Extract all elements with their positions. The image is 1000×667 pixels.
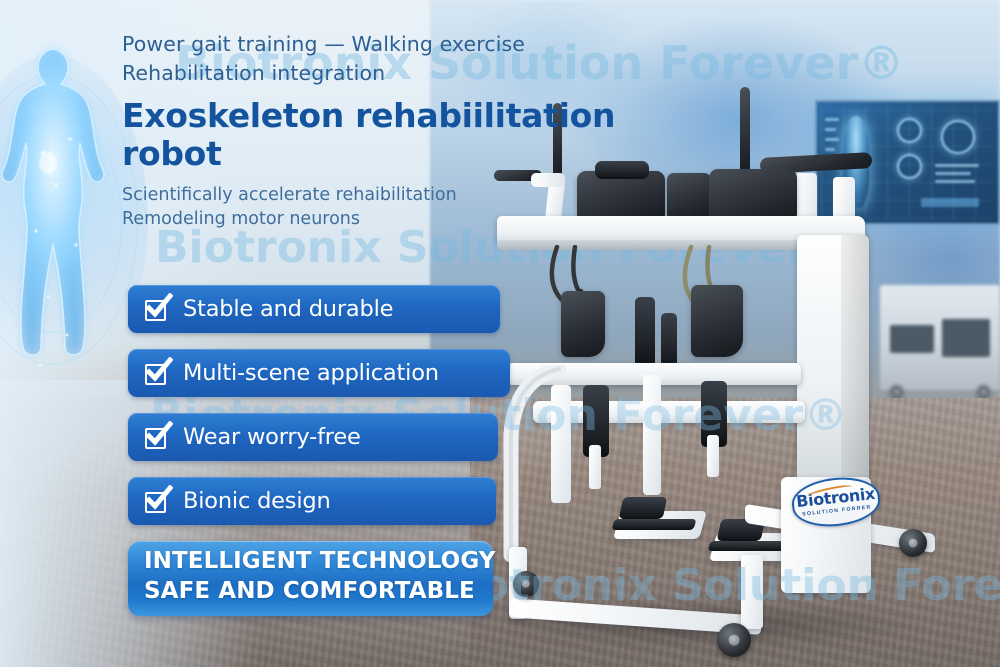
thigh-cuff — [561, 291, 605, 357]
checkbox-checked-icon — [143, 425, 170, 450]
robot-leg-post — [643, 375, 661, 495]
feature-label: Multi-scene application — [183, 360, 439, 386]
holographic-human-body-icon — [0, 35, 123, 435]
kicker-line-1: Power gait training — Walking exercise — [122, 30, 622, 59]
feature-label: Stable and durable — [183, 296, 393, 322]
thigh-cuff — [691, 285, 743, 357]
headline-line-1: Exoskeleton rehabiilitation — [122, 97, 622, 135]
foot-rail — [611, 519, 696, 530]
page-title: Exoskeleton rehabiilitation robot — [122, 97, 622, 174]
subcopy-line-2: Remodeling motor neurons — [122, 207, 622, 232]
feature-label: Bionic design — [183, 488, 331, 514]
torso-harness-pad — [667, 173, 711, 221]
subcopy-line-1: Scientifically accelerate rehaibilitatio… — [122, 183, 622, 208]
feature-chip-bionic-design[interactable]: Bionic design — [128, 477, 496, 525]
feature-chip-multi-scene-application[interactable]: Multi-scene application — [128, 349, 510, 397]
robot-caster — [899, 529, 927, 557]
feature-list: Stable and durable Multi-scene applicati… — [128, 285, 510, 616]
foot-strap — [619, 497, 668, 519]
checkbox-checked-icon — [143, 297, 170, 322]
robot-caster — [717, 623, 751, 657]
checkbox-checked-icon — [143, 361, 170, 386]
cart-shelf — [942, 319, 990, 357]
foot-rail — [708, 541, 789, 551]
feature-chip-stable-and-durable[interactable]: Stable and durable — [128, 285, 500, 333]
subtitle-text: Scientifically accelerate rehaibilitatio… — [122, 183, 622, 232]
cart-caster — [977, 385, 990, 398]
robot-caster — [513, 571, 539, 597]
screen-icon-c — [941, 120, 975, 154]
kicker-text: Power gait training — Walking exercise R… — [122, 30, 622, 88]
feature-chip-wear-worry-free[interactable]: Wear worry-free — [128, 413, 498, 461]
hero-copy-block: Power gait training — Walking exercise R… — [122, 30, 622, 232]
checkbox-checked-icon — [143, 489, 170, 514]
banner-line-1: INTELLIGENT TECHNOLOGY — [144, 547, 477, 577]
actuator-rod — [707, 435, 719, 477]
kicker-line-2: Rehabilitation integration — [122, 59, 622, 88]
feature-label: Wear worry-free — [183, 424, 361, 450]
robot-post — [740, 87, 750, 179]
banner-line-2: SAFE AND COMFORTABLE — [144, 577, 477, 607]
leg-linkage — [635, 297, 655, 367]
base-frame-rail — [741, 555, 763, 629]
torso-harness-pad — [709, 169, 797, 223]
headline-line-2: robot — [122, 135, 622, 173]
tagline-banner[interactable]: INTELLIGENT TECHNOLOGY SAFE AND COMFORTA… — [128, 541, 493, 616]
promo-banner: Biotronix Solution Forever® Biotronix So… — [0, 0, 1000, 667]
